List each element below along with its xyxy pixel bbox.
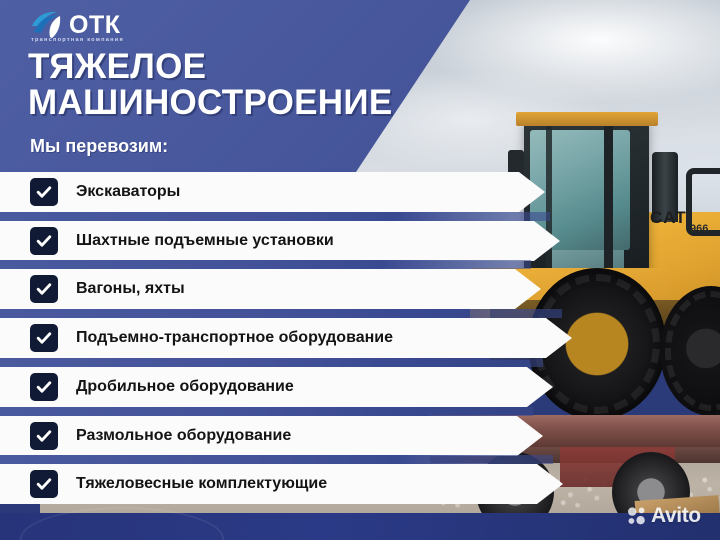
list-item[interactable]: Дробильное оборудование xyxy=(0,367,553,407)
row-separator xyxy=(0,260,531,269)
company-logo[interactable]: ОТК xyxy=(30,10,120,40)
checkmark-icon xyxy=(30,324,58,352)
loader-cab-pillar-rear xyxy=(604,126,613,286)
logo-wordmark: ОТК xyxy=(69,13,120,38)
avito-wordmark: Avito xyxy=(651,504,701,528)
row-separator xyxy=(0,358,543,367)
cat-brand-text: CAT xyxy=(650,208,687,228)
logo-tagline: транспортная компания xyxy=(31,37,124,43)
list-item[interactable]: Экскаваторы xyxy=(0,172,545,212)
bottom-blue-strip xyxy=(0,513,720,540)
list-item-label: Экскаваторы xyxy=(76,183,180,201)
cat-model-text: 966 xyxy=(690,223,708,235)
loader-cab-roof xyxy=(516,112,658,126)
list-item-label: Размольное оборудование xyxy=(76,427,291,445)
checkmark-icon xyxy=(30,373,58,401)
list-item[interactable]: Тяжеловесные комплектующие xyxy=(0,464,563,504)
loader-cab-pillar-front xyxy=(546,126,552,286)
row-separator xyxy=(0,309,562,318)
checkmark-icon xyxy=(30,470,58,498)
checkmark-icon xyxy=(30,227,58,255)
avito-dots-icon xyxy=(627,506,647,526)
row-separator xyxy=(0,407,533,416)
list-item-label: Вагоны, яхты xyxy=(76,280,185,298)
checkmark-icon xyxy=(30,422,58,450)
page-title: ТЯЖЕЛОЕ МАШИНОСТРОЕНИЕ xyxy=(28,49,392,120)
list-item-label: Дробильное оборудование xyxy=(76,378,294,396)
checkmark-icon xyxy=(30,178,58,206)
list-item-label: Подъемно-транспортное оборудование xyxy=(76,329,393,347)
list-item[interactable]: Шахтные подъемные установки xyxy=(0,221,560,261)
checkmark-icon xyxy=(30,275,58,303)
list-item[interactable]: Размольное оборудование xyxy=(0,416,543,456)
list-item-label: Тяжеловесные комплектующие xyxy=(76,475,327,493)
swoosh-leaf-icon xyxy=(30,10,66,40)
avito-watermark: Avito xyxy=(627,504,701,528)
row-separator xyxy=(0,455,553,464)
section-subtitle: Мы перевозим: xyxy=(30,136,168,157)
list-item[interactable]: Подъемно-транспортное оборудование xyxy=(0,318,572,358)
row-separator xyxy=(0,212,550,221)
list-item-label: Шахтные подъемные установки xyxy=(76,232,334,250)
list-item[interactable]: Вагоны, яхты xyxy=(0,269,541,309)
banner-canvas: CAT 966 ОТК транспортная компания ТЯЖЕЛО… xyxy=(0,0,720,540)
